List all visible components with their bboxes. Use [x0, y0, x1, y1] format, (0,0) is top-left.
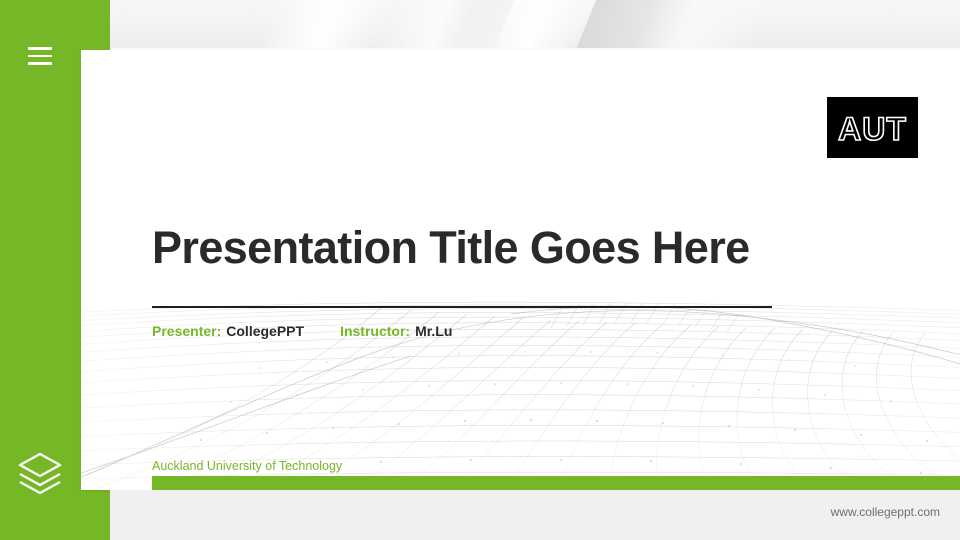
hamburger-icon[interactable]	[28, 47, 52, 65]
instructor-value: Mr.Lu	[415, 323, 452, 339]
presenter-label: Presenter:	[152, 323, 221, 339]
top-decorative-ribbon	[110, 0, 960, 50]
footer-strip: www.collegeppt.com	[110, 490, 960, 540]
instructor-label: Instructor:	[340, 323, 410, 339]
aut-badge-text: AUT	[838, 111, 907, 147]
slide-card[interactable]: AUT Presentation Title Goes Here Present…	[81, 50, 960, 490]
hamburger-bar-1	[28, 47, 52, 50]
card-accent-bar	[152, 476, 960, 490]
hamburger-bar-3	[28, 62, 52, 65]
page-title: Presentation Title Goes Here	[152, 222, 750, 274]
aut-logo-badge: AUT	[827, 97, 918, 158]
slide-editor-screen: AUT Presentation Title Goes Here Present…	[0, 0, 960, 540]
stacked-layers-logo-icon[interactable]	[16, 450, 64, 496]
hamburger-bar-2	[28, 55, 52, 58]
footer-website-url[interactable]: www.collegeppt.com	[831, 505, 940, 519]
byline-row: Presenter:CollegePPTInstructor:Mr.Lu	[152, 323, 452, 339]
title-divider	[152, 306, 772, 308]
university-name: Auckland University of Technology	[152, 459, 342, 473]
presenter-value: CollegePPT	[226, 323, 304, 339]
